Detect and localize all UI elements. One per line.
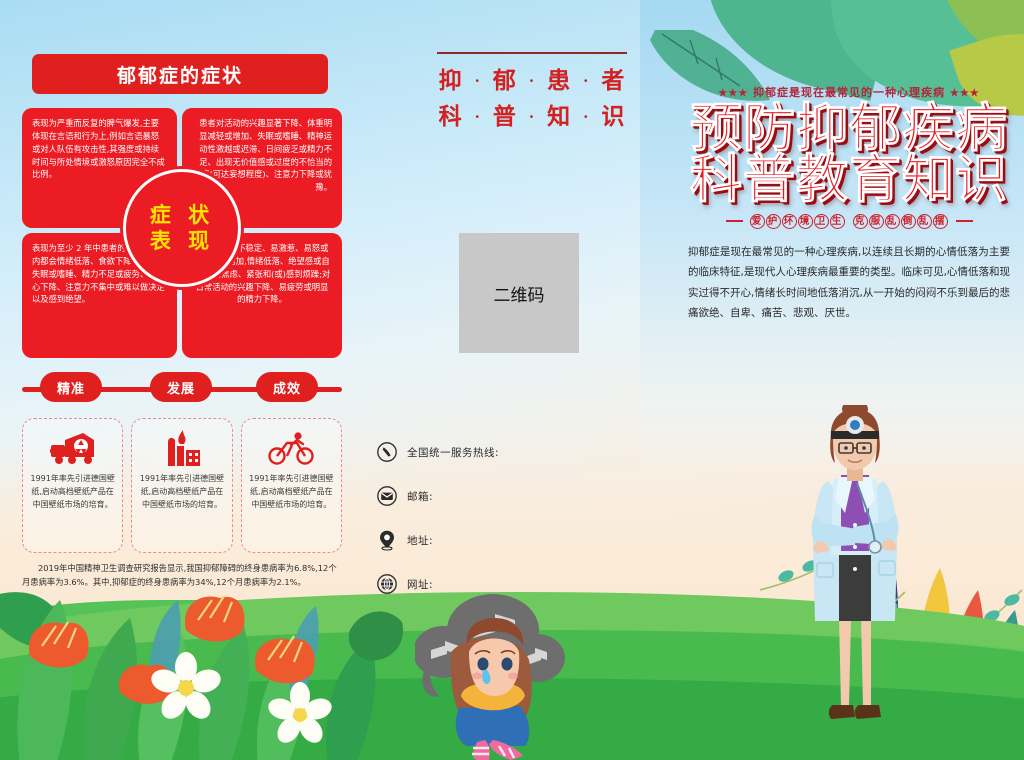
center-title-dot: · — [472, 72, 484, 90]
left-panel: 郁郁症的症状 表现为严重而反复的脾气爆发,主要体现在言语和行为上,例如言语暴怒或… — [22, 54, 342, 589]
subtitle-char: 倒 — [901, 214, 916, 229]
factory-icon — [162, 428, 202, 468]
feature-card-text: 1991年率先引进德国壁纸,启动高档壁纸产品在中国壁纸市场的培育。 — [30, 473, 115, 511]
center-title-rule — [437, 52, 627, 54]
center-title-char: 识 — [601, 103, 625, 130]
feature-cards: 1991年率先引进德国壁纸,启动高档壁纸产品在中国壁纸市场的培育。 1991年率… — [22, 418, 342, 553]
feature-card: 1991年率先引进德国壁纸,启动高档壁纸产品在中国壁纸市场的培育。 — [22, 418, 123, 553]
headline-line-2: 科普教育知识 — [688, 155, 1010, 206]
center-title-dot: · — [472, 108, 484, 126]
center-title-dot: · — [526, 72, 538, 90]
center-title-line-1: 抑 · 郁 · 患 · 者 — [404, 63, 660, 99]
subtitle-left: 爱护环境卫生 — [750, 213, 846, 229]
right-panel: ★★★ 抑郁症是现在最常见的一种心理疾病 ★★★ 预防抑郁疾病 科普教育知识 爱… — [688, 84, 1010, 324]
feature-card-text: 1991年率先引进德国壁纸,启动高档壁纸产品在中国壁纸市场的培育。 — [139, 473, 224, 511]
contact-label: 网址: — [407, 577, 433, 592]
flower-bed-illustration — [0, 560, 410, 760]
poster-canvas: 郁郁症的症状 表现为严重而反复的脾气爆发,主要体现在言语和行为上,例如言语暴怒或… — [0, 0, 1024, 760]
contact-row-hotline: 全国统一服务热线: — [376, 430, 656, 474]
female-doctor-illustration — [795, 405, 915, 760]
contact-label: 邮箱: — [407, 489, 433, 504]
subtitle-dash — [726, 220, 743, 222]
subtitle-char: 卫 — [814, 214, 829, 229]
center-title-char: 普 — [493, 103, 517, 130]
center-title-char: 郁 — [493, 67, 517, 94]
feature-card-text: 1991年率先引进德国壁纸,启动高档壁纸产品在中国壁纸市场的培育。 — [249, 473, 334, 511]
center-title-dot: · — [580, 108, 592, 126]
step-pill-3: 成效 — [256, 372, 318, 402]
feature-card: 1991年率先引进德国壁纸,启动高档壁纸产品在中国壁纸市场的培育。 — [131, 418, 232, 553]
right-panel-subtitle: 爱护环境卫生 克服乱倒乱摆 — [688, 213, 1010, 229]
symptom-badge-line2: 表 现 — [150, 228, 214, 254]
subtitle-char: 摆 — [933, 214, 948, 229]
center-title-dot: · — [526, 108, 538, 126]
center-title-char: 科 — [439, 103, 463, 130]
center-title-char: 抑 — [439, 67, 463, 94]
contact-row-address: 地址: — [376, 518, 656, 562]
subtitle-char: 服 — [869, 214, 884, 229]
center-title-char: 者 — [601, 67, 625, 94]
qr-code-placeholder[interactable]: 二维码 — [459, 233, 579, 353]
center-panel: 抑 · 郁 · 患 · 者 科 · 普 · 知 · 识 二维码 — [404, 52, 660, 134]
location-pin-icon — [376, 529, 398, 551]
steps-bar: 精准 发展 成效 — [22, 372, 342, 408]
contact-list: 全国统一服务热线: 邮箱: — [376, 430, 656, 606]
contact-label: 地址: — [407, 533, 433, 548]
garbage-truck-icon — [50, 428, 96, 468]
left-panel-title: 郁郁症的症状 — [117, 61, 243, 88]
center-title-char: 知 — [547, 103, 571, 130]
center-title-dot: · — [580, 72, 592, 90]
subtitle-char: 克 — [853, 214, 868, 229]
subtitle-char: 境 — [798, 214, 813, 229]
subtitle-dash — [956, 220, 973, 222]
cyclist-icon — [268, 428, 314, 468]
left-panel-footnote: 2019年中国精神卫生调查研究报告显示,我国抑郁障碍的终身患病率为6.8%,12… — [22, 562, 342, 589]
subtitle-char: 乱 — [885, 214, 900, 229]
right-panel-headline: 预防抑郁疾病 科普教育知识 — [688, 104, 1010, 206]
left-panel-title-ribbon: 郁郁症的症状 — [32, 54, 328, 94]
symptom-badge-line1: 症 状 — [150, 202, 214, 228]
step-pill-1: 精准 — [40, 372, 102, 402]
center-title-char: 患 — [547, 67, 571, 94]
contact-label: 全国统一服务热线: — [407, 445, 499, 460]
globe-icon — [376, 573, 398, 595]
symptom-center-badge: 症 状 表 现 — [123, 169, 241, 287]
center-title: 抑 · 郁 · 患 · 者 科 · 普 · 知 · 识 — [404, 63, 660, 134]
symptom-grid: 表现为严重而反复的脾气爆发,主要体现在言语和行为上,例如言语暴怒或对人队伍有攻击… — [22, 108, 342, 358]
step-pill-2: 发展 — [150, 372, 212, 402]
center-title-line-2: 科 · 普 · 知 · 识 — [404, 99, 660, 135]
subtitle-char: 环 — [782, 214, 797, 229]
feature-card: 1991年率先引进德国壁纸,启动高档壁纸产品在中国壁纸市场的培育。 — [241, 418, 342, 553]
subtitle-char: 乱 — [917, 214, 932, 229]
sad-girl-illustration — [415, 590, 575, 760]
subtitle-char: 爱 — [750, 214, 765, 229]
contact-row-website: 网址: — [376, 562, 656, 606]
phone-icon — [376, 441, 398, 463]
right-panel-body-text: 抑郁症是现在最常见的一种心理疾病,以连续且长期的心情低落为主要的临床特征,是现代… — [688, 242, 1010, 324]
mail-icon — [376, 485, 398, 507]
contact-row-email: 邮箱: — [376, 474, 656, 518]
subtitle-right: 克服乱倒乱摆 — [853, 213, 949, 229]
subtitle-char: 护 — [766, 214, 781, 229]
subtitle-char: 生 — [830, 214, 845, 229]
